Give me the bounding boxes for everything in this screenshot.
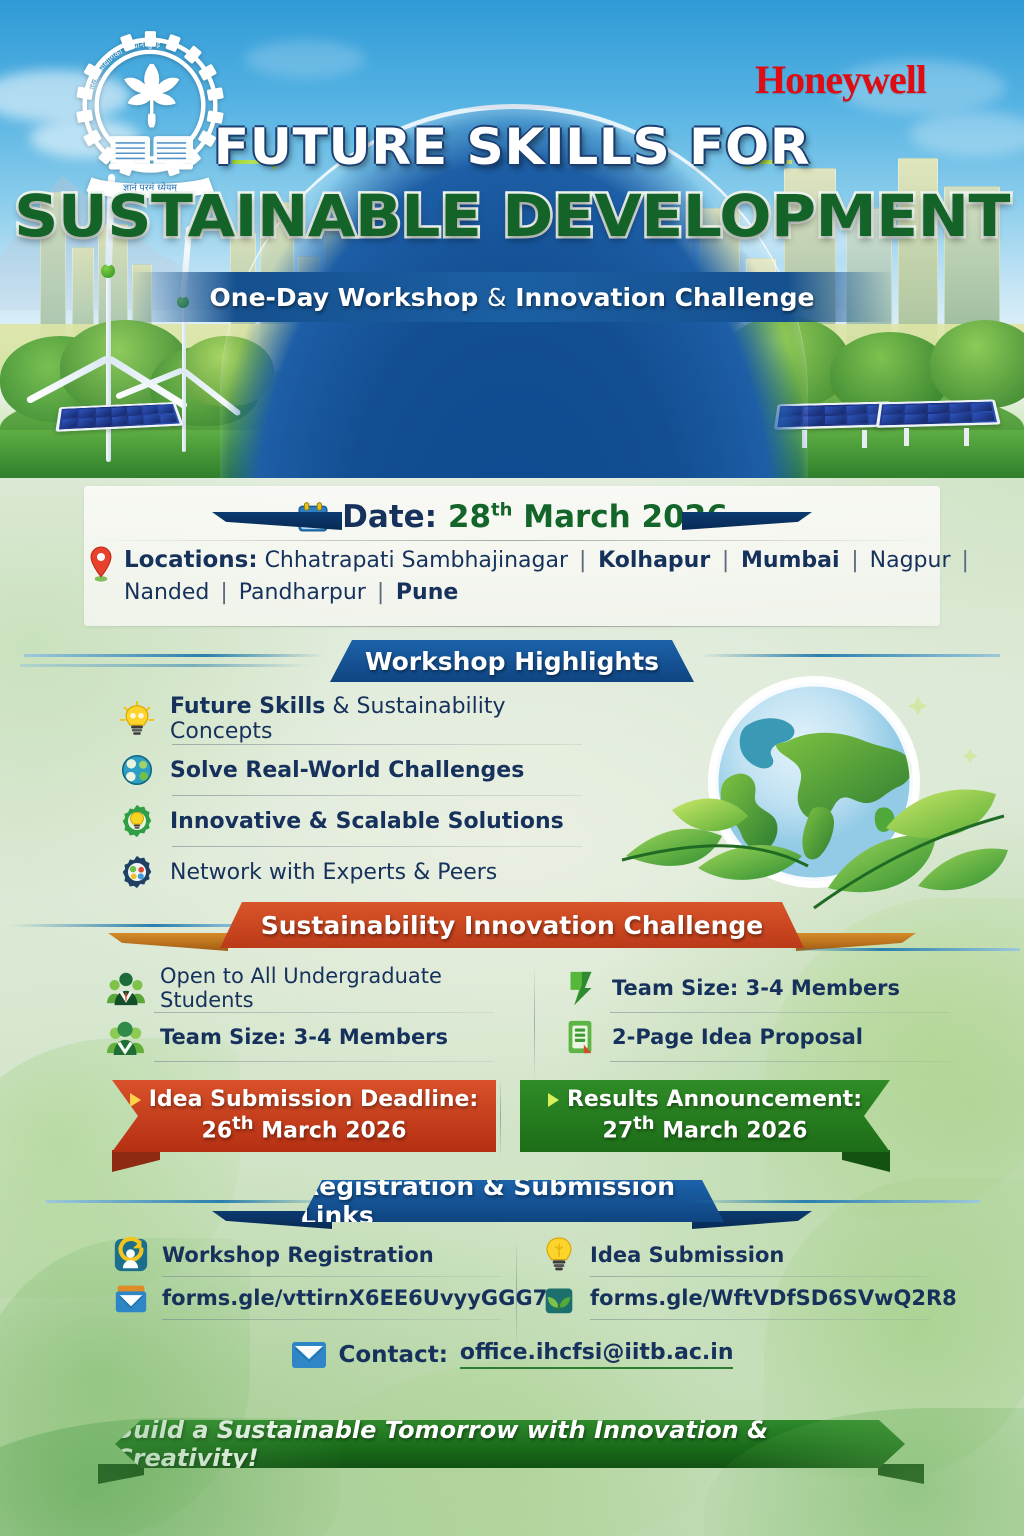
location-item: Nanded <box>124 580 216 605</box>
challenge-grid: Open to All Undergraduate Students Team <box>0 964 1024 1084</box>
location-separator: | <box>373 580 388 605</box>
person-registration-icon <box>112 1236 150 1274</box>
contact-email[interactable]: office.ihcfsi@iitb.ac.in <box>460 1340 734 1369</box>
location-separator: | <box>216 580 231 605</box>
contact-label: Contact: <box>339 1342 448 1368</box>
results-day: 27 <box>603 1119 634 1144</box>
highlight-text: Solve Real-World Challenges <box>170 758 524 783</box>
subtitle-part-2: Innovation Challenge <box>507 283 815 312</box>
idea-submission-label: Idea Submission <box>590 1243 784 1267</box>
location-separator: | <box>847 548 862 573</box>
challenge-text: Team Size: 3-4 Members <box>160 1025 448 1049</box>
footer-banner: Build a Sustainable Tomorrow with Innova… <box>115 1420 905 1468</box>
challenge-column-right: Team Size: 3-4 Members 2-Page Idea Propo… <box>560 964 980 1062</box>
subtitle-bar: One-Day Workshop & Innovation Challenge <box>130 272 894 322</box>
envelope-icon <box>112 1279 150 1317</box>
results-ordinal: th <box>633 1113 654 1134</box>
footer-text: Build a Sustainable Tomorrow with Innova… <box>115 1416 905 1472</box>
deadline-day: 26 <box>202 1119 233 1144</box>
links-column-right: Idea Submission forms.gle/WftVDfSD6SVwQ2… <box>540 1234 940 1320</box>
highlight-text: Network with Experts & Peers <box>170 860 497 885</box>
deadline-date: 26th March 2026 <box>202 1113 407 1145</box>
challenge-item: Team Size: 3-4 Members <box>560 964 980 1012</box>
challenge-item: Team Size: 3-4 Members <box>104 1013 524 1061</box>
globe-people-icon <box>118 751 156 789</box>
gear-bulb-icon <box>118 802 156 840</box>
workshop-registration-url[interactable]: forms.gle/vttirnX6EE6UvyyGGG7 <box>162 1286 547 1310</box>
workshop-registration-row[interactable]: Workshop Registration <box>112 1234 512 1276</box>
solar-panel-icon <box>876 399 1001 427</box>
cloud-decor <box>245 40 365 78</box>
wind-turbine-icon <box>182 302 186 452</box>
footer-bold-1: Sustainable Tomorrow <box>217 1416 518 1444</box>
divider <box>84 626 940 627</box>
location-pin-icon <box>88 546 114 582</box>
students-group-icon <box>104 969 148 1007</box>
flag-green-icon <box>560 969 600 1007</box>
section-heading-challenge: Sustainability Innovation Challenge <box>220 902 804 948</box>
highlights-list: Future Skills & Sustainability Concepts <box>118 694 588 897</box>
highlight-rest: Network with Experts & Peers <box>170 860 497 885</box>
deadline-banner: Idea Submission Deadline: 26th March 202… <box>112 1080 496 1152</box>
date-text: Date: 28th March 2026 <box>342 499 728 535</box>
location-item: Mumbai <box>733 548 847 573</box>
poster-body: Date: 28th March 2026 Locations: Chhatra… <box>0 478 1024 1536</box>
highlight-item: Innovative & Scalable Solutions <box>118 796 588 846</box>
workshop-registration-label: Workshop Registration <box>162 1243 434 1267</box>
challenge-text: Team Size: 3-4 Members <box>612 976 900 1000</box>
challenge-text: 2-Page Idea Proposal <box>612 1025 863 1049</box>
highlight-item: Network with Experts & Peers <box>118 847 588 897</box>
highlight-item: Future Skills & Sustainability Concepts <box>118 694 588 744</box>
hero-banner: ज्ञानं परमं ध्येयम् भारतीय प्रौद्योगिकी … <box>0 0 1024 478</box>
idea-submission-url-row[interactable]: forms.gle/WftVDfSD6SVwQ2R8 <box>540 1277 940 1319</box>
highlight-item: Solve Real-World Challenges <box>118 745 588 795</box>
poster-root: ज्ञानं परमं ध्येयम् भारतीय प्रौद्योगिकी … <box>0 0 1024 1536</box>
title-line-2: SUSTAINABLE DEVELOPMENT <box>0 182 1024 250</box>
contact-row: Contact: office.ihcfsi@iitb.ac.in <box>0 1340 1024 1369</box>
idea-submission-url[interactable]: forms.gle/WftVDfSD6SVwQ2R8 <box>590 1286 957 1310</box>
lightbulb-icon <box>118 700 156 738</box>
location-separator: | <box>575 548 590 573</box>
results-label: Results Announcement: <box>567 1087 862 1114</box>
subtitle-ampersand: & <box>487 283 507 312</box>
deadline-month-year: March 2026 <box>254 1119 407 1144</box>
results-label-line: Results Announcement: <box>548 1087 862 1114</box>
results-banner: Results Announcement: 27th March 2026 <box>520 1080 890 1152</box>
section-heading-links: Registration & Submission Links <box>300 1180 724 1222</box>
date-day: 28 <box>448 499 491 535</box>
subtitle-part-1: One-Day Workshop <box>210 283 488 312</box>
links-column-left: Workshop Registration forms.gle/vttirnX6… <box>112 1234 512 1320</box>
results-month-year: March 2026 <box>655 1119 808 1144</box>
mail-icon <box>291 1341 327 1369</box>
divider <box>84 540 940 541</box>
location-item: Nagpur <box>863 548 958 573</box>
earth-with-leaves-illustration <box>618 660 1008 930</box>
workshop-registration-url-row[interactable]: forms.gle/vttirnX6EE6UvyyGGG7 <box>112 1277 512 1319</box>
document-icon <box>560 1018 600 1056</box>
locations-text: Locations: Chhatrapati Sambhajinagar | K… <box>124 544 988 609</box>
challenge-column-left: Open to All Undergraduate Students Team <box>104 964 524 1062</box>
poster-title-group: FUTURE SKILLS FOR SUSTAINABLE DEVELOPMEN… <box>0 118 1024 250</box>
network-gear-icon <box>118 853 156 891</box>
poster-subtitle: One-Day Workshop & Innovation Challenge <box>210 283 815 312</box>
location-separator: | <box>718 548 733 573</box>
date-ordinal-suffix: th <box>491 500 512 521</box>
highlight-bold: Innovative & Scalable Solutions <box>170 809 564 834</box>
seedling-icon <box>540 1279 578 1317</box>
location-item: Kolhapur <box>590 548 717 573</box>
honeywell-logo: Honeywell <box>755 56 926 103</box>
deadline-label-line: Idea Submission Deadline: <box>130 1087 478 1114</box>
lightbulb-idea-icon <box>540 1236 578 1274</box>
date-row: Date: 28th March 2026 <box>84 492 940 542</box>
wind-turbine-icon <box>106 270 111 462</box>
highlight-bold: Solve Real-World Challenges <box>170 758 524 783</box>
footer-part-2: with <box>518 1416 594 1444</box>
locations-row: Locations: Chhatrapati Sambhajinagar | K… <box>88 544 988 609</box>
title-line-1: FUTURE SKILLS FOR <box>0 118 1024 176</box>
challenge-text: Open to All Undergraduate Students <box>160 964 524 1012</box>
challenge-item: 2-Page Idea Proposal <box>560 1013 980 1061</box>
ribbon-tail-left <box>108 933 228 951</box>
footer-part-1: Build a <box>115 1416 217 1444</box>
results-date: 27th March 2026 <box>603 1113 808 1145</box>
idea-submission-row[interactable]: Idea Submission <box>540 1234 940 1276</box>
location-item: Pandharpur <box>232 580 373 605</box>
deadline-ordinal: th <box>232 1113 253 1134</box>
challenge-item: Open to All Undergraduate Students <box>104 964 524 1012</box>
highlight-text: Innovative & Scalable Solutions <box>170 809 564 834</box>
highlight-bold: Future Skills <box>170 694 325 719</box>
location-separator: | <box>957 548 972 573</box>
highlight-text: Future Skills & Sustainability Concepts <box>170 694 588 744</box>
team-icon <box>104 1018 148 1056</box>
location-item: Pune <box>388 580 458 605</box>
location-item: Chhatrapati Sambhajinagar <box>265 548 575 573</box>
date-label: Date: <box>342 499 437 535</box>
locations-label: Locations: <box>124 547 258 573</box>
deadline-label: Idea Submission Deadline: <box>149 1087 478 1114</box>
